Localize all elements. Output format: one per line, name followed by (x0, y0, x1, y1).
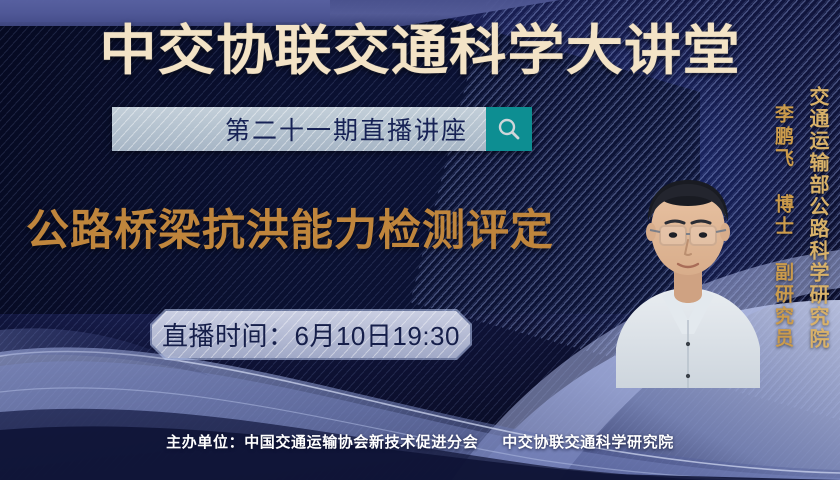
poster-canvas: 中交协联交通科学大讲堂 第二十一期直播讲座 公路桥梁抗洪能力检测评定 直播时间：… (0, 0, 840, 480)
broadcast-time-pill: 直播时间：6月10日19:30 (152, 311, 470, 358)
broadcast-time-text: 直播时间：6月10日19:30 (162, 316, 460, 353)
search-icon (496, 116, 522, 142)
lecture-headline: 公路桥梁抗洪能力检测评定 (26, 204, 554, 258)
footer-organizer-2: 中交协联交通科学研究院 (502, 434, 674, 451)
footer-label: 主办单位： (166, 434, 244, 451)
search-icon-box[interactable] (486, 107, 532, 151)
subtitle-text: 第二十一期直播讲座 (225, 111, 468, 147)
footer-organizer-1: 中国交通运输协会新技术促进分会 (244, 434, 478, 451)
speaker-organization: 交通运输部公路科学研究院 (803, 86, 832, 350)
speaker-name-title: 李鹏飞 博士 副研究员 (769, 104, 796, 350)
subtitle-bar: 第二十一期直播讲座 (112, 107, 532, 151)
subtitle-bar-body: 第二十一期直播讲座 (112, 107, 486, 151)
speaker-portrait (614, 138, 762, 388)
footer-organizers: 主办单位：中国交通运输协会新技术促进分会中交协联交通科学研究院 (0, 431, 840, 452)
page-title: 中交协联交通科学大讲堂 (0, 20, 840, 82)
